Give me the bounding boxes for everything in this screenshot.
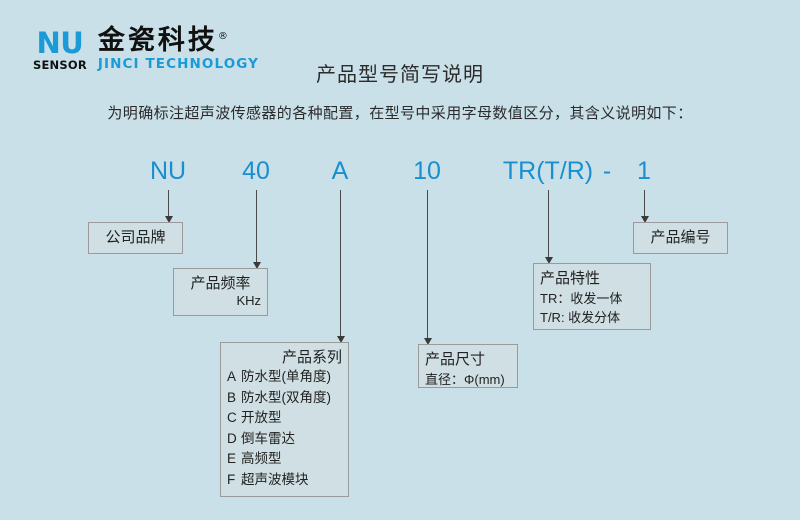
series-option-label: 倒车雷达 [241,431,295,446]
diagram-canvas: NU SENSOR 金瓷科技® JINCI TECHNOLOGY 产品型号简写说… [0,0,800,520]
callout-box-product-feature: 产品特性TR：收发一体T/R: 收发分体 [533,263,651,330]
model-code-part: NU [150,157,186,186]
callout-subline: T/R: 收发分体 [540,307,644,326]
series-option-b: B防水型(双角度) [227,388,342,409]
model-code-part: A [332,157,349,186]
series-option-e: E高频型 [227,449,342,470]
page-title: 产品型号简写说明 [0,58,800,87]
series-option-letter: D [227,429,241,450]
leader-line [340,190,341,336]
callout-title: 产品系列 [227,346,342,367]
callout-box-product-size: 产品尺寸直径：Φ(mm) [418,344,518,388]
callout-title: 产品频率 [180,272,261,293]
leader-line [256,190,257,262]
leader-line [427,190,428,338]
series-option-d: D倒车雷达 [227,429,342,450]
callout-title: 公司品牌 [95,226,176,247]
callout-box-product-number: 产品编号 [633,222,728,254]
registered-trademark-icon: ® [218,31,231,42]
model-code-part: TR(T/R) [503,157,593,186]
logo-mark-text: NU [37,29,84,58]
callout-title: 产品特性 [540,267,644,288]
logo-company-name-cn-text: 金瓷科技 [98,25,218,56]
series-option-label: 开放型 [241,410,282,425]
callout-subline: 直径：Φ(mm) [425,369,511,388]
leader-line [644,190,645,216]
callout-title: 产品编号 [640,226,721,247]
series-option-c: C开放型 [227,408,342,429]
callout-box-product-series: 产品系列A防水型(单角度)B防水型(双角度)C开放型D倒车雷达E高频型F超声波模… [220,342,349,497]
series-option-letter: C [227,408,241,429]
model-code-part: - [603,157,611,186]
callout-subline: TR：收发一体 [540,288,644,307]
model-code-part: 10 [413,157,441,186]
leader-line [548,190,549,257]
series-option-label: 防水型(单角度) [241,369,331,384]
series-option-letter: A [227,367,241,388]
page-subtitle: 为明确标注超声波传感器的各种配置，在型号中采用字母数值区分，其含义说明如下： [0,102,800,123]
callout-subline: KHz [180,293,261,308]
model-code-part: 1 [637,157,651,186]
series-option-label: 超声波模块 [241,472,309,487]
callout-box-product-frequency: 产品频率KHz [173,268,268,316]
series-option-f: F超声波模块 [227,470,342,491]
series-option-label: 高频型 [241,451,282,466]
callout-title: 产品尺寸 [425,348,511,369]
series-option-label: 防水型(双角度) [241,390,331,405]
leader-line [168,190,169,216]
series-option-a: A防水型(单角度) [227,367,342,388]
series-option-letter: E [227,449,241,470]
series-option-letter: B [227,388,241,409]
callout-box-company-brand: 公司品牌 [88,222,183,254]
series-option-letter: F [227,470,241,491]
logo-company-name-cn: 金瓷科技® [98,27,259,54]
model-code-part: 40 [242,157,270,186]
